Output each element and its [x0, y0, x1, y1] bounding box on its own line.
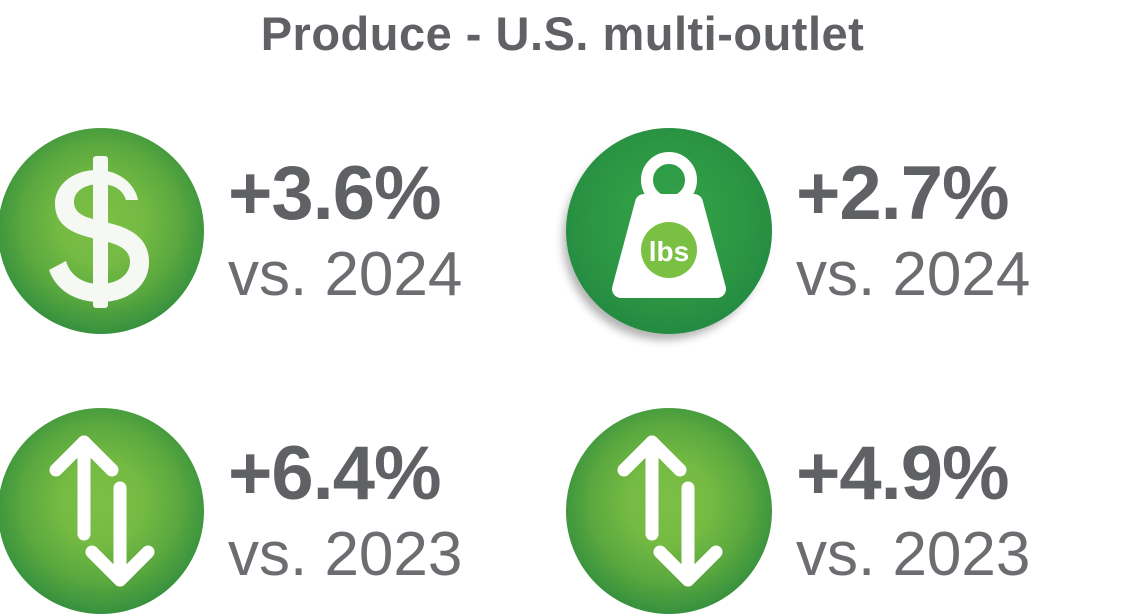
stat-card-volume-sales-two-year: +4.9% vs. 2023: [566, 408, 1030, 614]
up-down-arrows-icon: [0, 408, 204, 614]
stat-value: +2.7%: [796, 156, 1030, 232]
stat-value: +6.4%: [228, 436, 462, 512]
stat-label: vs. 2023: [796, 524, 1030, 586]
stat-value: +4.9%: [796, 436, 1030, 512]
stat-text-block: +6.4% vs. 2023: [228, 436, 462, 586]
stat-card-volume-sales: lbs +2.7% vs. 2024: [566, 128, 1030, 334]
dollar-sign-icon: [0, 128, 204, 334]
stat-card-grid: +3.6% vs. 2024 lbs +2.7% vs. 2024: [0, 112, 1125, 609]
stat-value: +3.6%: [228, 156, 462, 232]
page-title: Produce - U.S. multi-outlet: [0, 4, 1125, 64]
stat-text-block: +4.9% vs. 2023: [796, 436, 1030, 586]
stat-text-block: +3.6% vs. 2024: [228, 156, 462, 306]
weight-lbs-icon: lbs: [566, 128, 772, 334]
stat-label: vs. 2024: [228, 244, 462, 306]
produce-stats-infographic: Produce - U.S. multi-outlet +3.6% vs. 20…: [0, 0, 1125, 609]
stat-text-block: +2.7% vs. 2024: [796, 156, 1030, 306]
up-down-arrows-icon: [566, 408, 772, 614]
lbs-icon-text: lbs: [649, 236, 689, 267]
stat-card-dollar-sales-two-year: +6.4% vs. 2023: [0, 408, 462, 614]
stat-label: vs. 2024: [796, 244, 1030, 306]
stat-label: vs. 2023: [228, 524, 462, 586]
stat-card-dollar-sales: +3.6% vs. 2024: [0, 128, 462, 334]
